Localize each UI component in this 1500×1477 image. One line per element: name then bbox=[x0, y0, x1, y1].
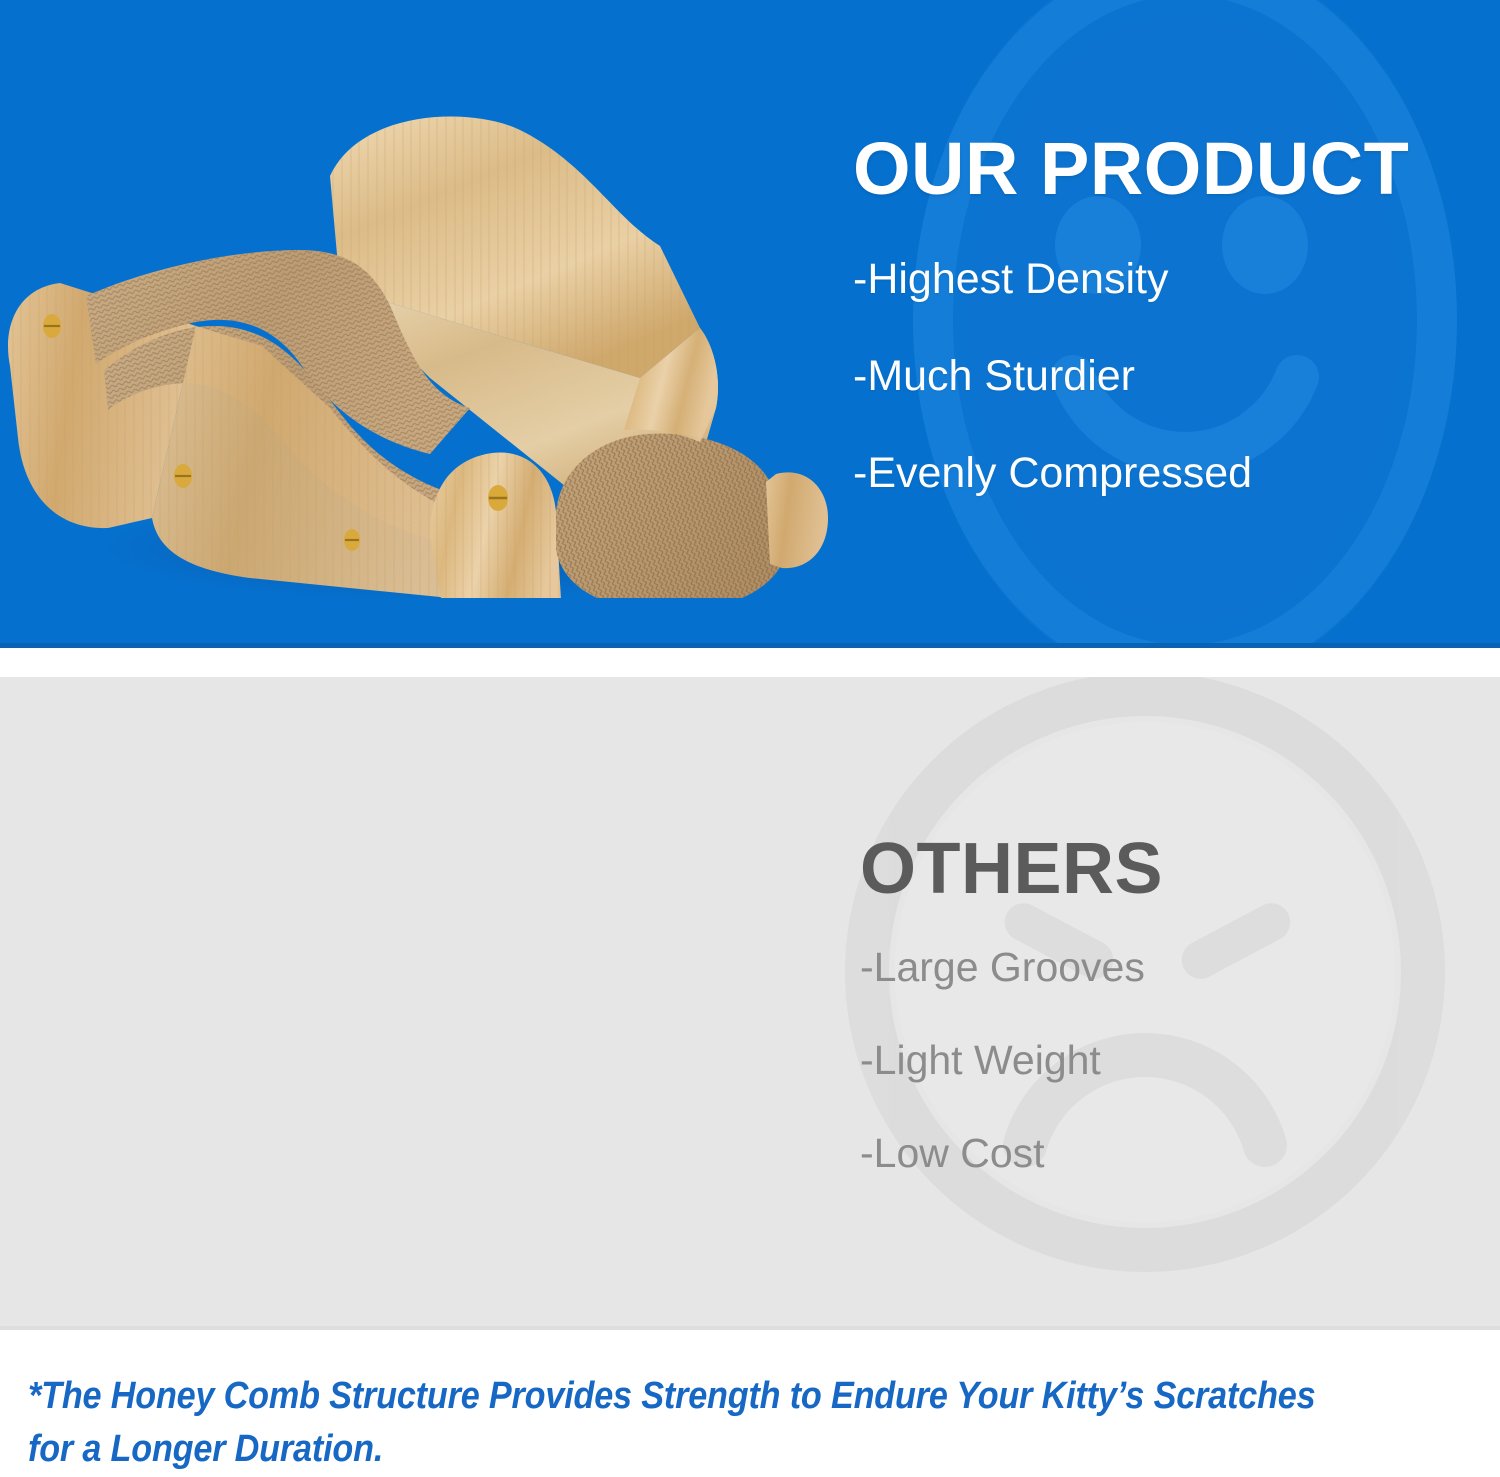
others-text-block: OTHERS -Large Grooves -Light Weight -Low… bbox=[860, 833, 1500, 1174]
our-product-bullet-list: -Highest Density -Much Sturdier -Evenly … bbox=[853, 258, 1473, 495]
others-bullet-list: -Large Grooves -Light Weight -Low Cost bbox=[860, 947, 1500, 1174]
our-product-heading: OUR PRODUCT bbox=[853, 132, 1473, 206]
footnote-line-1: *The Honey Comb Structure Provides Stren… bbox=[28, 1370, 1324, 1423]
bullet-item: -Evenly Compressed bbox=[853, 452, 1473, 495]
our-product-panel: OUR PRODUCT -Highest Density -Much Sturd… bbox=[0, 0, 1500, 648]
bullet-item: -Light Weight bbox=[860, 1040, 1500, 1081]
footnote-line-2: for a Longer Duration. bbox=[28, 1423, 1324, 1476]
bullet-item: -Much Sturdier bbox=[853, 355, 1473, 398]
footnote: *The Honey Comb Structure Provides Stren… bbox=[28, 1370, 1324, 1476]
bullet-item: -Highest Density bbox=[853, 258, 1473, 301]
our-product-image bbox=[0, 78, 840, 598]
others-panel: OTHERS -Large Grooves -Light Weight -Low… bbox=[0, 677, 1500, 1330]
our-product-text-block: OUR PRODUCT -Highest Density -Much Sturd… bbox=[853, 132, 1473, 495]
others-heading: OTHERS bbox=[860, 833, 1500, 905]
bullet-item: -Large Grooves bbox=[860, 947, 1500, 988]
bullet-item: -Low Cost bbox=[860, 1133, 1500, 1174]
panel-divider bbox=[0, 648, 1500, 677]
